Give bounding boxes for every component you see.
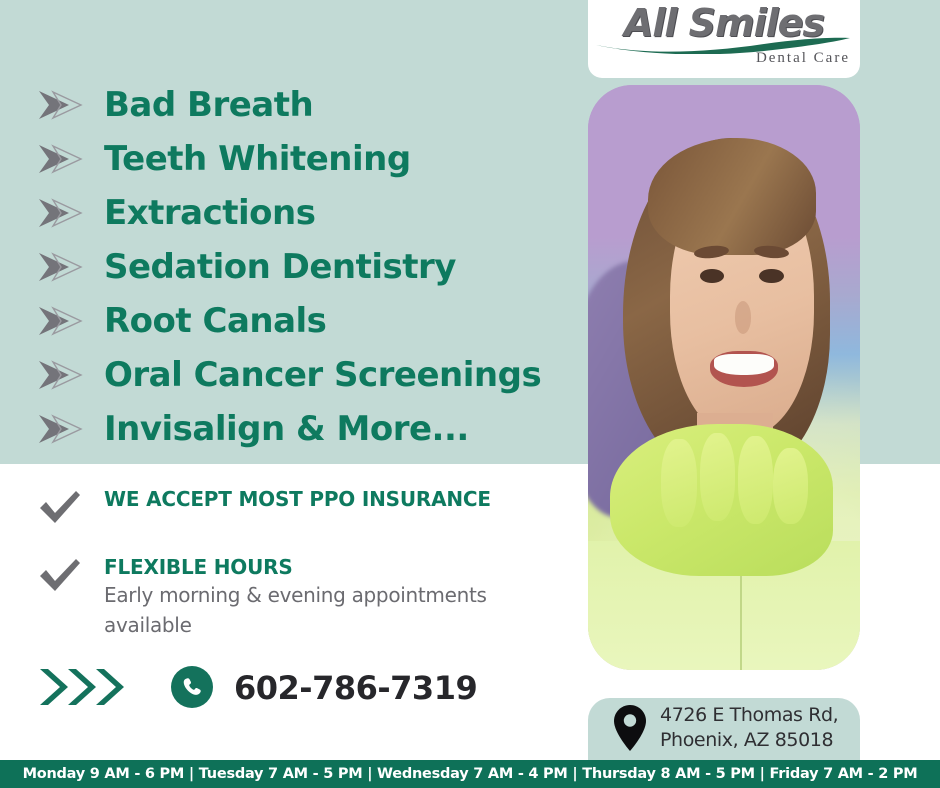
service-item: Oral Cancer Screenings [36,348,566,402]
address-line-1: 4726 E Thomas Rd, [660,703,838,728]
photo-glove-finger [738,436,773,524]
photo-teeth [714,354,774,375]
arrow-bullet-icon [36,196,88,230]
arrow-bullet-icon [36,412,88,446]
address-text: 4726 E Thomas Rd, Phoenix, AZ 85018 [660,703,838,753]
photo-glove-finger [773,448,808,524]
dental-ad-flyer: All Smiles Dental Care [0,0,940,788]
phone-icon [181,676,203,698]
arrow-bullet-icon [36,142,88,176]
arrow-bullet-icon [36,304,88,338]
checkmark-icon [36,556,84,596]
benefit-subtitle: Early morning & evening appointments ava… [104,580,576,640]
photo-nose [735,301,751,333]
benefit-title: WE ACCEPT MOST PPO INSURANCE [104,486,491,512]
office-hours-bar: Monday 9 AM - 6 PM | Tuesday 7 AM - 5 PM… [0,760,940,788]
benefit-text: FLEXIBLE HOURS Early morning & evening a… [104,554,576,640]
checkmark-icon [36,488,84,528]
service-item: Root Canals [36,294,566,348]
services-list: Bad Breath Teeth Whitening Extractions S… [36,78,566,456]
patient-photo [588,85,860,670]
service-item: Extractions [36,186,566,240]
benefit-item-insurance: WE ACCEPT MOST PPO INSURANCE [36,486,576,528]
benefit-text: WE ACCEPT MOST PPO INSURANCE [104,486,491,512]
phone-number[interactable]: 602-786-7319 [234,669,477,707]
arrow-bullet-icon [36,88,88,122]
service-label: Extractions [104,193,315,233]
office-hours-text: Monday 9 AM - 6 PM | Tuesday 7 AM - 5 PM… [23,766,918,782]
service-item: Invisalign & More... [36,402,566,456]
service-label: Bad Breath [104,85,313,125]
photo-hair-fringe [648,138,817,255]
service-label: Sedation Dentistry [104,247,456,287]
service-item: Bad Breath [36,78,566,132]
service-label: Root Canals [104,301,326,341]
service-label: Oral Cancer Screenings [104,355,541,395]
service-item: Sedation Dentistry [36,240,566,294]
service-label: Teeth Whitening [104,139,411,179]
phone-icon-badge[interactable] [171,666,213,708]
address-panel: 4726 E Thomas Rd, Phoenix, AZ 85018 [588,698,860,760]
logo-tagline: Dental Care [588,50,850,67]
arrow-bullet-icon [36,250,88,284]
practice-logo-card: All Smiles Dental Care [588,0,860,78]
map-pin-icon [612,704,648,754]
benefit-title: FLEXIBLE HOURS [104,554,576,580]
service-item: Teeth Whitening [36,132,566,186]
arrow-bullet-icon [36,358,88,392]
benefits-list: WE ACCEPT MOST PPO INSURANCE FLEXIBLE HO… [36,486,576,640]
service-label: Invisalign & More... [104,409,469,449]
logo-inner: All Smiles Dental Care [588,0,860,78]
photo-glove-finger [700,433,735,521]
triple-chevron-icon [38,664,130,710]
address-line-2: Phoenix, AZ 85018 [660,728,838,753]
photo-glove-finger [661,439,696,527]
benefit-item-hours: FLEXIBLE HOURS Early morning & evening a… [36,554,576,640]
